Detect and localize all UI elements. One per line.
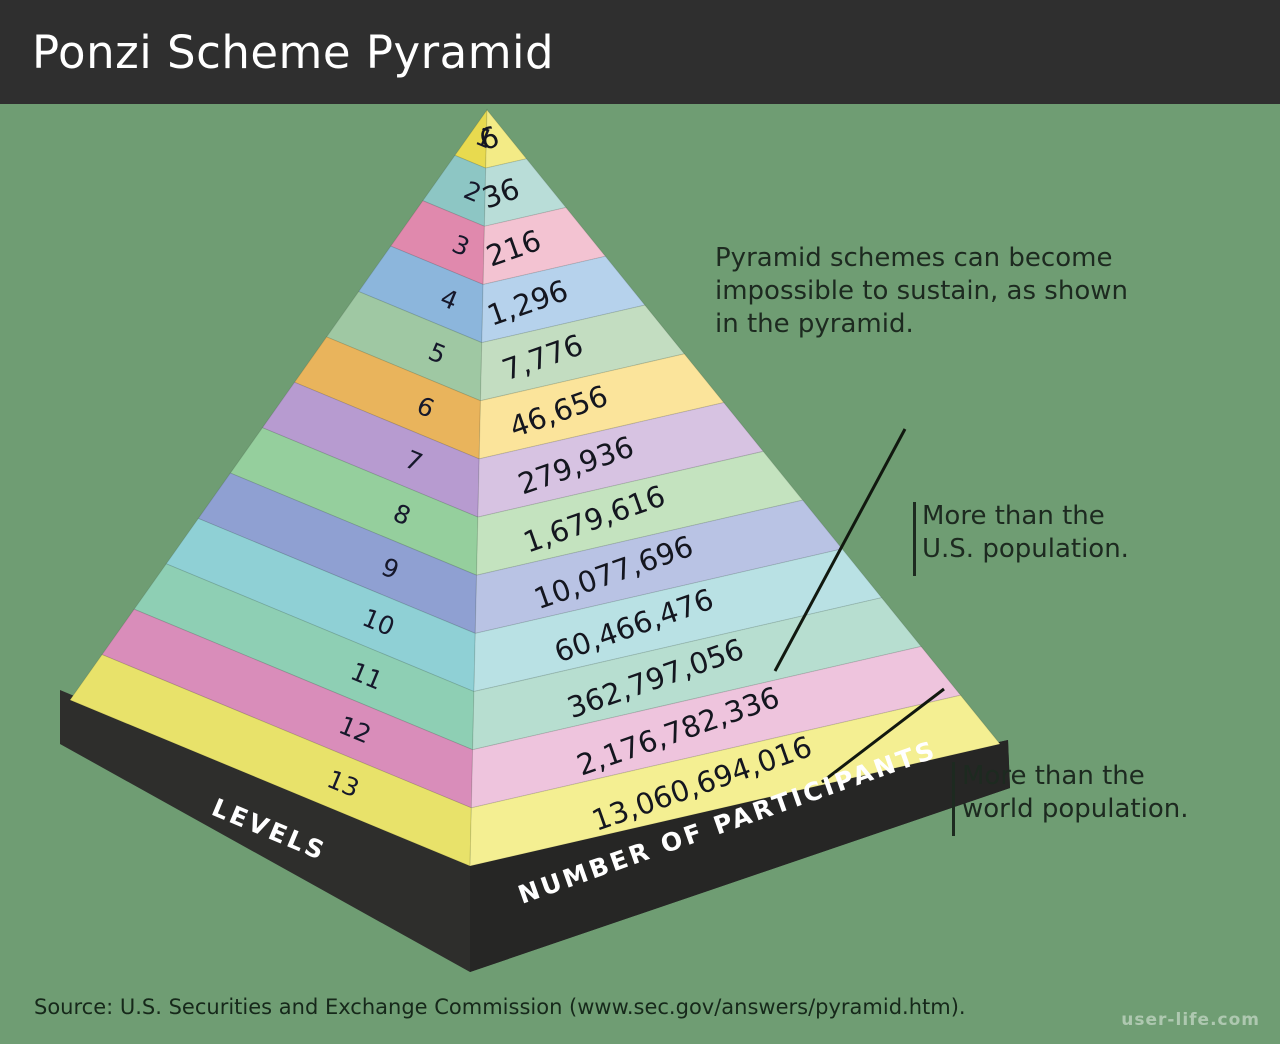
- title-banner: Ponzi Scheme Pyramid: [0, 0, 1280, 104]
- source-line: Source: U.S. Securities and Exchange Com…: [34, 995, 966, 1019]
- bracket-us-population: [913, 502, 916, 576]
- note-world-population: More than the world population.: [962, 760, 1252, 826]
- infographic-root: Ponzi Scheme Pyramid LEVELS NUMBER OF PA…: [0, 0, 1280, 1044]
- watermark: user-life.com: [1121, 1010, 1260, 1030]
- note-us-population: More than the U.S. population.: [922, 500, 1222, 566]
- chart-canvas: LEVELS NUMBER OF PARTICIPANTS 1623632164…: [0, 104, 1280, 1044]
- page-title: Ponzi Scheme Pyramid: [32, 26, 554, 79]
- bracket-world-population: [952, 762, 955, 836]
- note-intro: Pyramid schemes can become impossible to…: [715, 242, 1215, 341]
